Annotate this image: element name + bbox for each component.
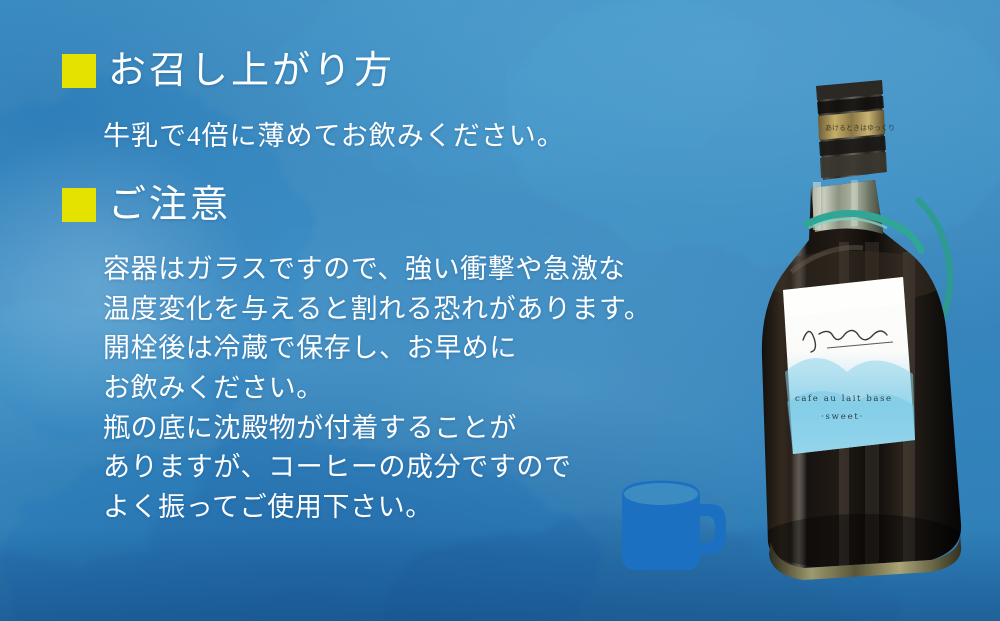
product-bottle-image: あけるときはゆっくり summer poetry cafe au lait ba… [735,72,970,582]
bottle-cap: あけるときはゆっくり [816,80,895,180]
bottle-neck [811,180,883,234]
caution-line: 温度変化を与えると割れる恐れがあります。 [103,290,693,330]
product-description-banner: お召し上がり方 牛乳で4倍に薄めてお飲みください。 ご注意 容器はガラスですので… [0,0,1000,621]
section-heading-label: ご注意 [108,186,231,224]
cap-instruction-text: あけるときはゆっくり [825,124,895,132]
coffee-mug-silhouette-icon [614,470,734,580]
text-content: お召し上がり方 牛乳で4倍に薄めてお飲みください。 ご注意 容器はガラスですので… [0,0,700,621]
section-heading-serving: お召し上がり方 [62,52,395,90]
caution-text-block: 容器はガラスですので、強い衝撃や急激な 温度変化を与えると割れる恐れがあります。… [103,250,693,528]
caution-line: 瓶の底に沈殿物が付着することが [103,409,693,449]
yellow-square-bullet-icon [62,54,96,88]
caution-line: よく振ってご使用下さい。 [103,488,693,528]
section-heading-caution: ご注意 [62,186,231,224]
serving-instruction-line: 牛乳で4倍に薄めてお飲みください。 [103,118,565,154]
caution-line: お飲みください。 [103,369,693,409]
bottle-label [783,277,915,454]
caution-line: ありますが、コーヒーの成分ですので [103,448,693,488]
caution-line: 開栓後は冷蔵で保存し、お早めに [103,329,693,369]
serving-instruction-text: 牛乳で4倍に薄めてお飲みください。 [103,121,565,151]
section-heading-label: お召し上がり方 [108,52,395,90]
caution-line: 容器はガラスですので、強い衝撃や急激な [103,250,693,290]
yellow-square-bullet-icon [62,188,96,222]
